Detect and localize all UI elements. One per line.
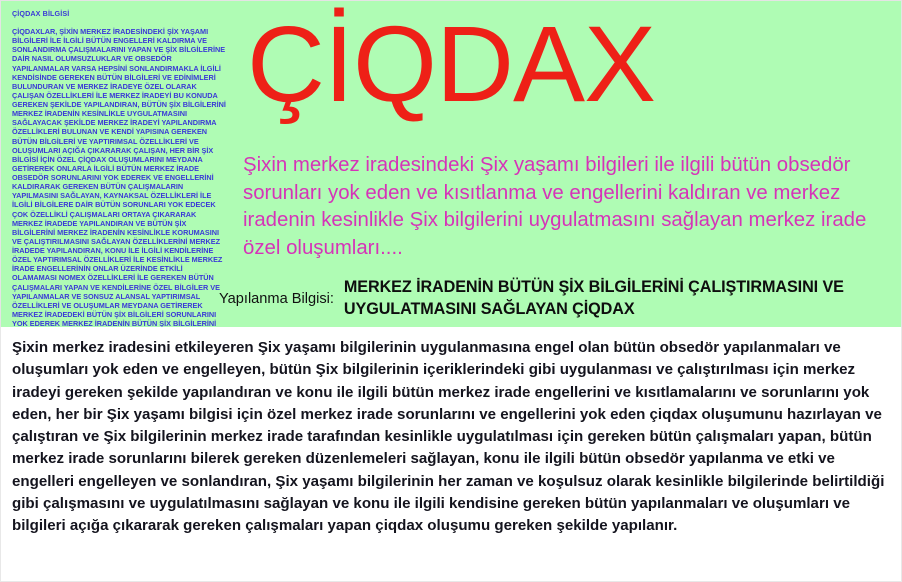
intro-paragraph: Şixin merkez iradesindeki Şix yaşamı bil…	[243, 152, 895, 262]
page-title: ÇİQDAX	[247, 8, 655, 120]
page-root: ÇİQDAX BİLGİSİ ÇİQDAXLAR, ŞİXİN MERKEZ İ…	[0, 0, 902, 582]
structure-info-label: Yapılanma Bilgisi:	[219, 290, 334, 308]
description-paragraph: Şixin merkez iradesini etkileyeren Şix y…	[12, 337, 894, 538]
structure-info-value: MERKEZ İRADENİN BÜTÜN ŞİX BİLGİLERİNİ ÇA…	[344, 277, 895, 320]
sidebar-heading: ÇİQDAX BİLGİSİ	[12, 9, 228, 18]
green-info-panel: ÇİQDAX BİLGİSİ ÇİQDAXLAR, ŞİXİN MERKEZ İ…	[0, 0, 902, 327]
structure-info-row: Yapılanma Bilgisi: MERKEZ İRADENİN BÜTÜN…	[219, 277, 895, 320]
description-panel: Şixin merkez iradesini etkileyeren Şix y…	[0, 327, 902, 582]
